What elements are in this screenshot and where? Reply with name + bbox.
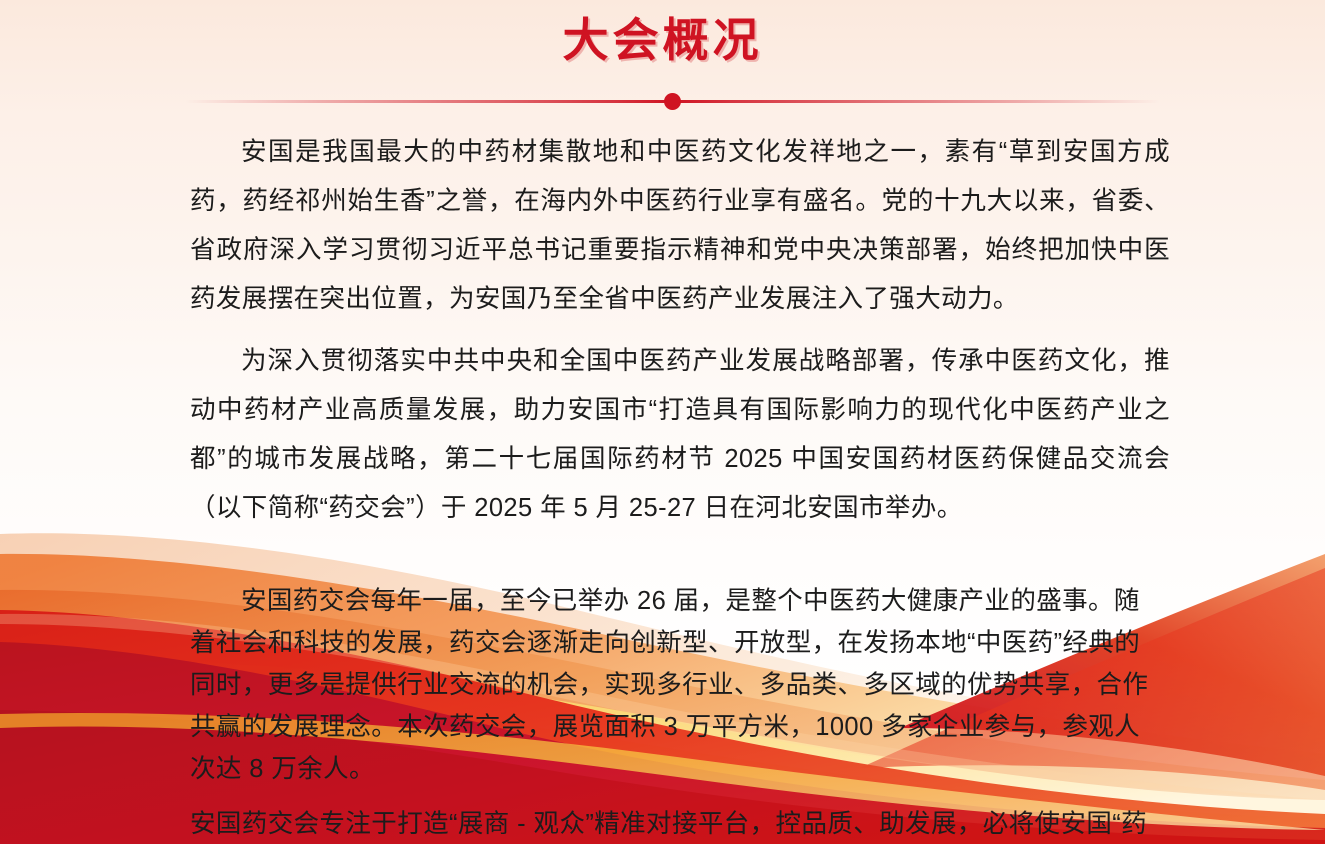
- paragraph-1: 安国是我国最大的中药材集散地和中医药文化发祥地之一，素有“草到安国方成药，药经祁…: [190, 128, 1170, 324]
- overview-text-block-lower: 安国药交会每年一届，至今已举办 26 届，是整个中医药大健康产业的盛事。随着社会…: [190, 556, 1155, 844]
- paragraph-4: 安国药交会专注于打造“展商 - 观众”精准对接平台，控品质、助发展，必将使安国“…: [190, 803, 1155, 844]
- page-header: 大会概况: [0, 0, 1325, 118]
- overview-text-block: 安国是我国最大的中药材集散地和中医药文化发祥地之一，素有“草到安国方成药，药经祁…: [190, 128, 1170, 533]
- page-title: 大会概况: [0, 14, 1325, 68]
- conference-overview-poster: 大会概况: [0, 0, 1325, 844]
- divider-dot-icon: [664, 93, 681, 110]
- paragraph-3: 安国药交会每年一届，至今已举办 26 届，是整个中医药大健康产业的盛事。随着社会…: [190, 580, 1155, 790]
- paragraph-2: 为深入贯彻落实中共中央和全国中医药产业发展战略部署，传承中医药文化，推动中药材产…: [190, 337, 1170, 533]
- title-divider: [185, 92, 1160, 112]
